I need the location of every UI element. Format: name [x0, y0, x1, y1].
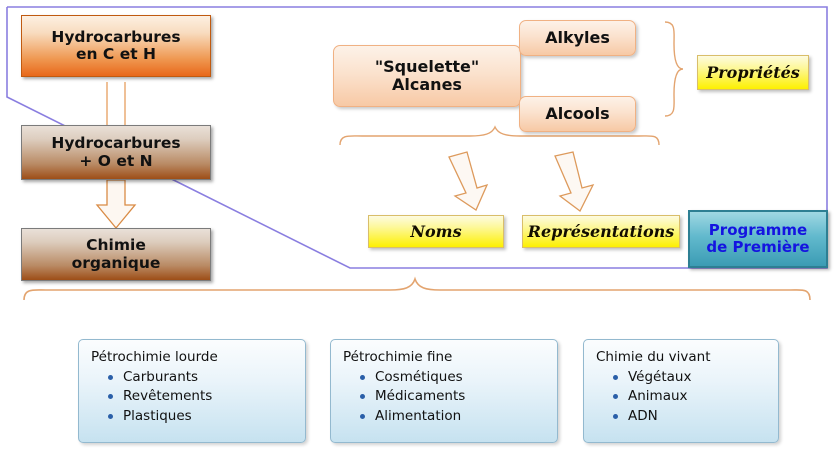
card-list: Carburants Revêtements Plastiques	[91, 369, 295, 424]
node-hydrocarbures-c-h[interactable]: Hydrocarbures en C et H	[21, 15, 211, 77]
bullet-icon	[360, 394, 365, 399]
node-alkyles[interactable]: Alkyles	[519, 20, 636, 56]
node-label: Noms	[410, 223, 461, 241]
arrow-oxygen-to-chimie	[97, 180, 135, 228]
node-label: Hydrocarbures en C et H	[51, 29, 180, 64]
brace-branches-to-proprietes	[665, 22, 683, 116]
node-alcools[interactable]: Alcools	[519, 96, 636, 132]
node-label: Représentations	[528, 223, 675, 241]
bullet-icon	[613, 414, 618, 419]
card-list: Végétaux Animaux ADN	[596, 369, 768, 424]
node-label: Hydrocarbures + O et N	[51, 135, 180, 170]
list-item: Végétaux	[613, 369, 768, 385]
node-squelette-alcanes[interactable]: "Squelette" Alcanes	[333, 45, 521, 107]
bullet-icon	[360, 414, 365, 419]
list-item-label: Carburants	[123, 369, 198, 385]
card-petrochimie-fine[interactable]: Pétrochimie fine Cosmétiques Médicaments…	[330, 339, 558, 443]
node-label: "Squelette" Alcanes	[375, 58, 479, 94]
list-item-label: Végétaux	[628, 369, 691, 385]
node-noms[interactable]: Noms	[368, 215, 504, 248]
connector-hydrocarbures-to-oxygen	[107, 82, 125, 125]
diagram-canvas: Hydrocarbures en C et H Hydrocarbures + …	[0, 0, 834, 456]
node-label: Chimie organique	[72, 237, 161, 272]
card-title: Pétrochimie fine	[343, 349, 547, 365]
list-item-label: Cosmétiques	[375, 369, 463, 385]
card-chimie-du-vivant[interactable]: Chimie du vivant Végétaux Animaux ADN	[583, 339, 779, 443]
node-hydrocarbures-o-n[interactable]: Hydrocarbures + O et N	[21, 125, 211, 180]
bullet-icon	[613, 394, 618, 399]
list-item: Médicaments	[360, 388, 547, 404]
node-programme-premiere[interactable]: Programme de Première	[688, 210, 828, 268]
list-item: Cosmétiques	[360, 369, 547, 385]
list-item: Carburants	[108, 369, 295, 385]
card-petrochimie-lourde[interactable]: Pétrochimie lourde Carburants Revêtement…	[78, 339, 306, 443]
node-label: Alkyles	[545, 29, 610, 47]
bullet-icon	[108, 414, 113, 419]
node-label: Alcools	[545, 105, 609, 123]
arrow-to-representations	[555, 152, 593, 211]
card-title: Chimie du vivant	[596, 349, 768, 365]
list-item: Animaux	[613, 388, 768, 404]
list-item: Alimentation	[360, 408, 547, 424]
card-list: Cosmétiques Médicaments Alimentation	[343, 369, 547, 424]
bullet-icon	[108, 394, 113, 399]
card-title: Pétrochimie lourde	[91, 349, 295, 365]
list-item-label: Médicaments	[375, 388, 465, 404]
bullet-icon	[360, 375, 365, 380]
list-item-label: ADN	[628, 408, 658, 424]
node-label: Programme de Première	[706, 222, 809, 256]
bullet-icon	[613, 375, 618, 380]
list-item-label: Plastiques	[123, 408, 192, 424]
list-item: Plastiques	[108, 408, 295, 424]
node-representations[interactable]: Représentations	[522, 215, 680, 248]
list-item: ADN	[613, 408, 768, 424]
arrow-to-noms	[449, 152, 487, 210]
brace-applications	[24, 279, 810, 300]
node-proprietes[interactable]: Propriétés	[697, 55, 809, 90]
node-label: Propriétés	[706, 64, 800, 82]
list-item: Revêtements	[108, 388, 295, 404]
list-item-label: Revêtements	[123, 388, 212, 404]
bullet-icon	[108, 375, 113, 380]
list-item-label: Animaux	[628, 388, 688, 404]
list-item-label: Alimentation	[375, 408, 461, 424]
node-chimie-organique[interactable]: Chimie organique	[21, 228, 211, 281]
